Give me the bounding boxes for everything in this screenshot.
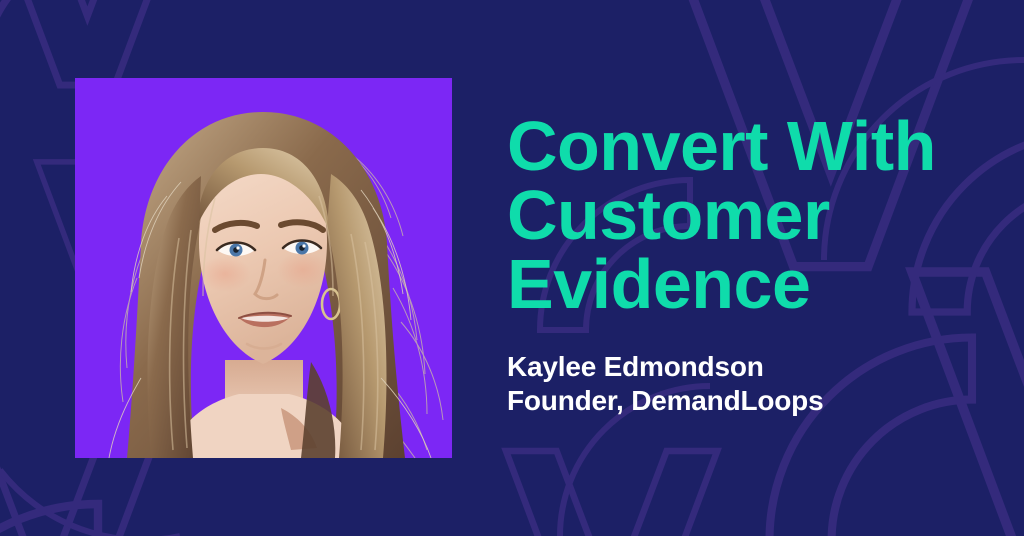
speaker-block: Kaylee Edmondson Founder, DemandLoops (507, 350, 977, 418)
speaker-role: Founder, DemandLoops (507, 384, 977, 418)
speaker-headshot (75, 78, 452, 458)
page-title: Convert With Customer Evidence (507, 112, 977, 319)
webinar-title-slide: Convert With Customer Evidence Kaylee Ed… (0, 0, 1024, 536)
text-block: Convert With Customer Evidence Kaylee Ed… (507, 112, 977, 418)
speaker-name: Kaylee Edmondson (507, 350, 977, 384)
